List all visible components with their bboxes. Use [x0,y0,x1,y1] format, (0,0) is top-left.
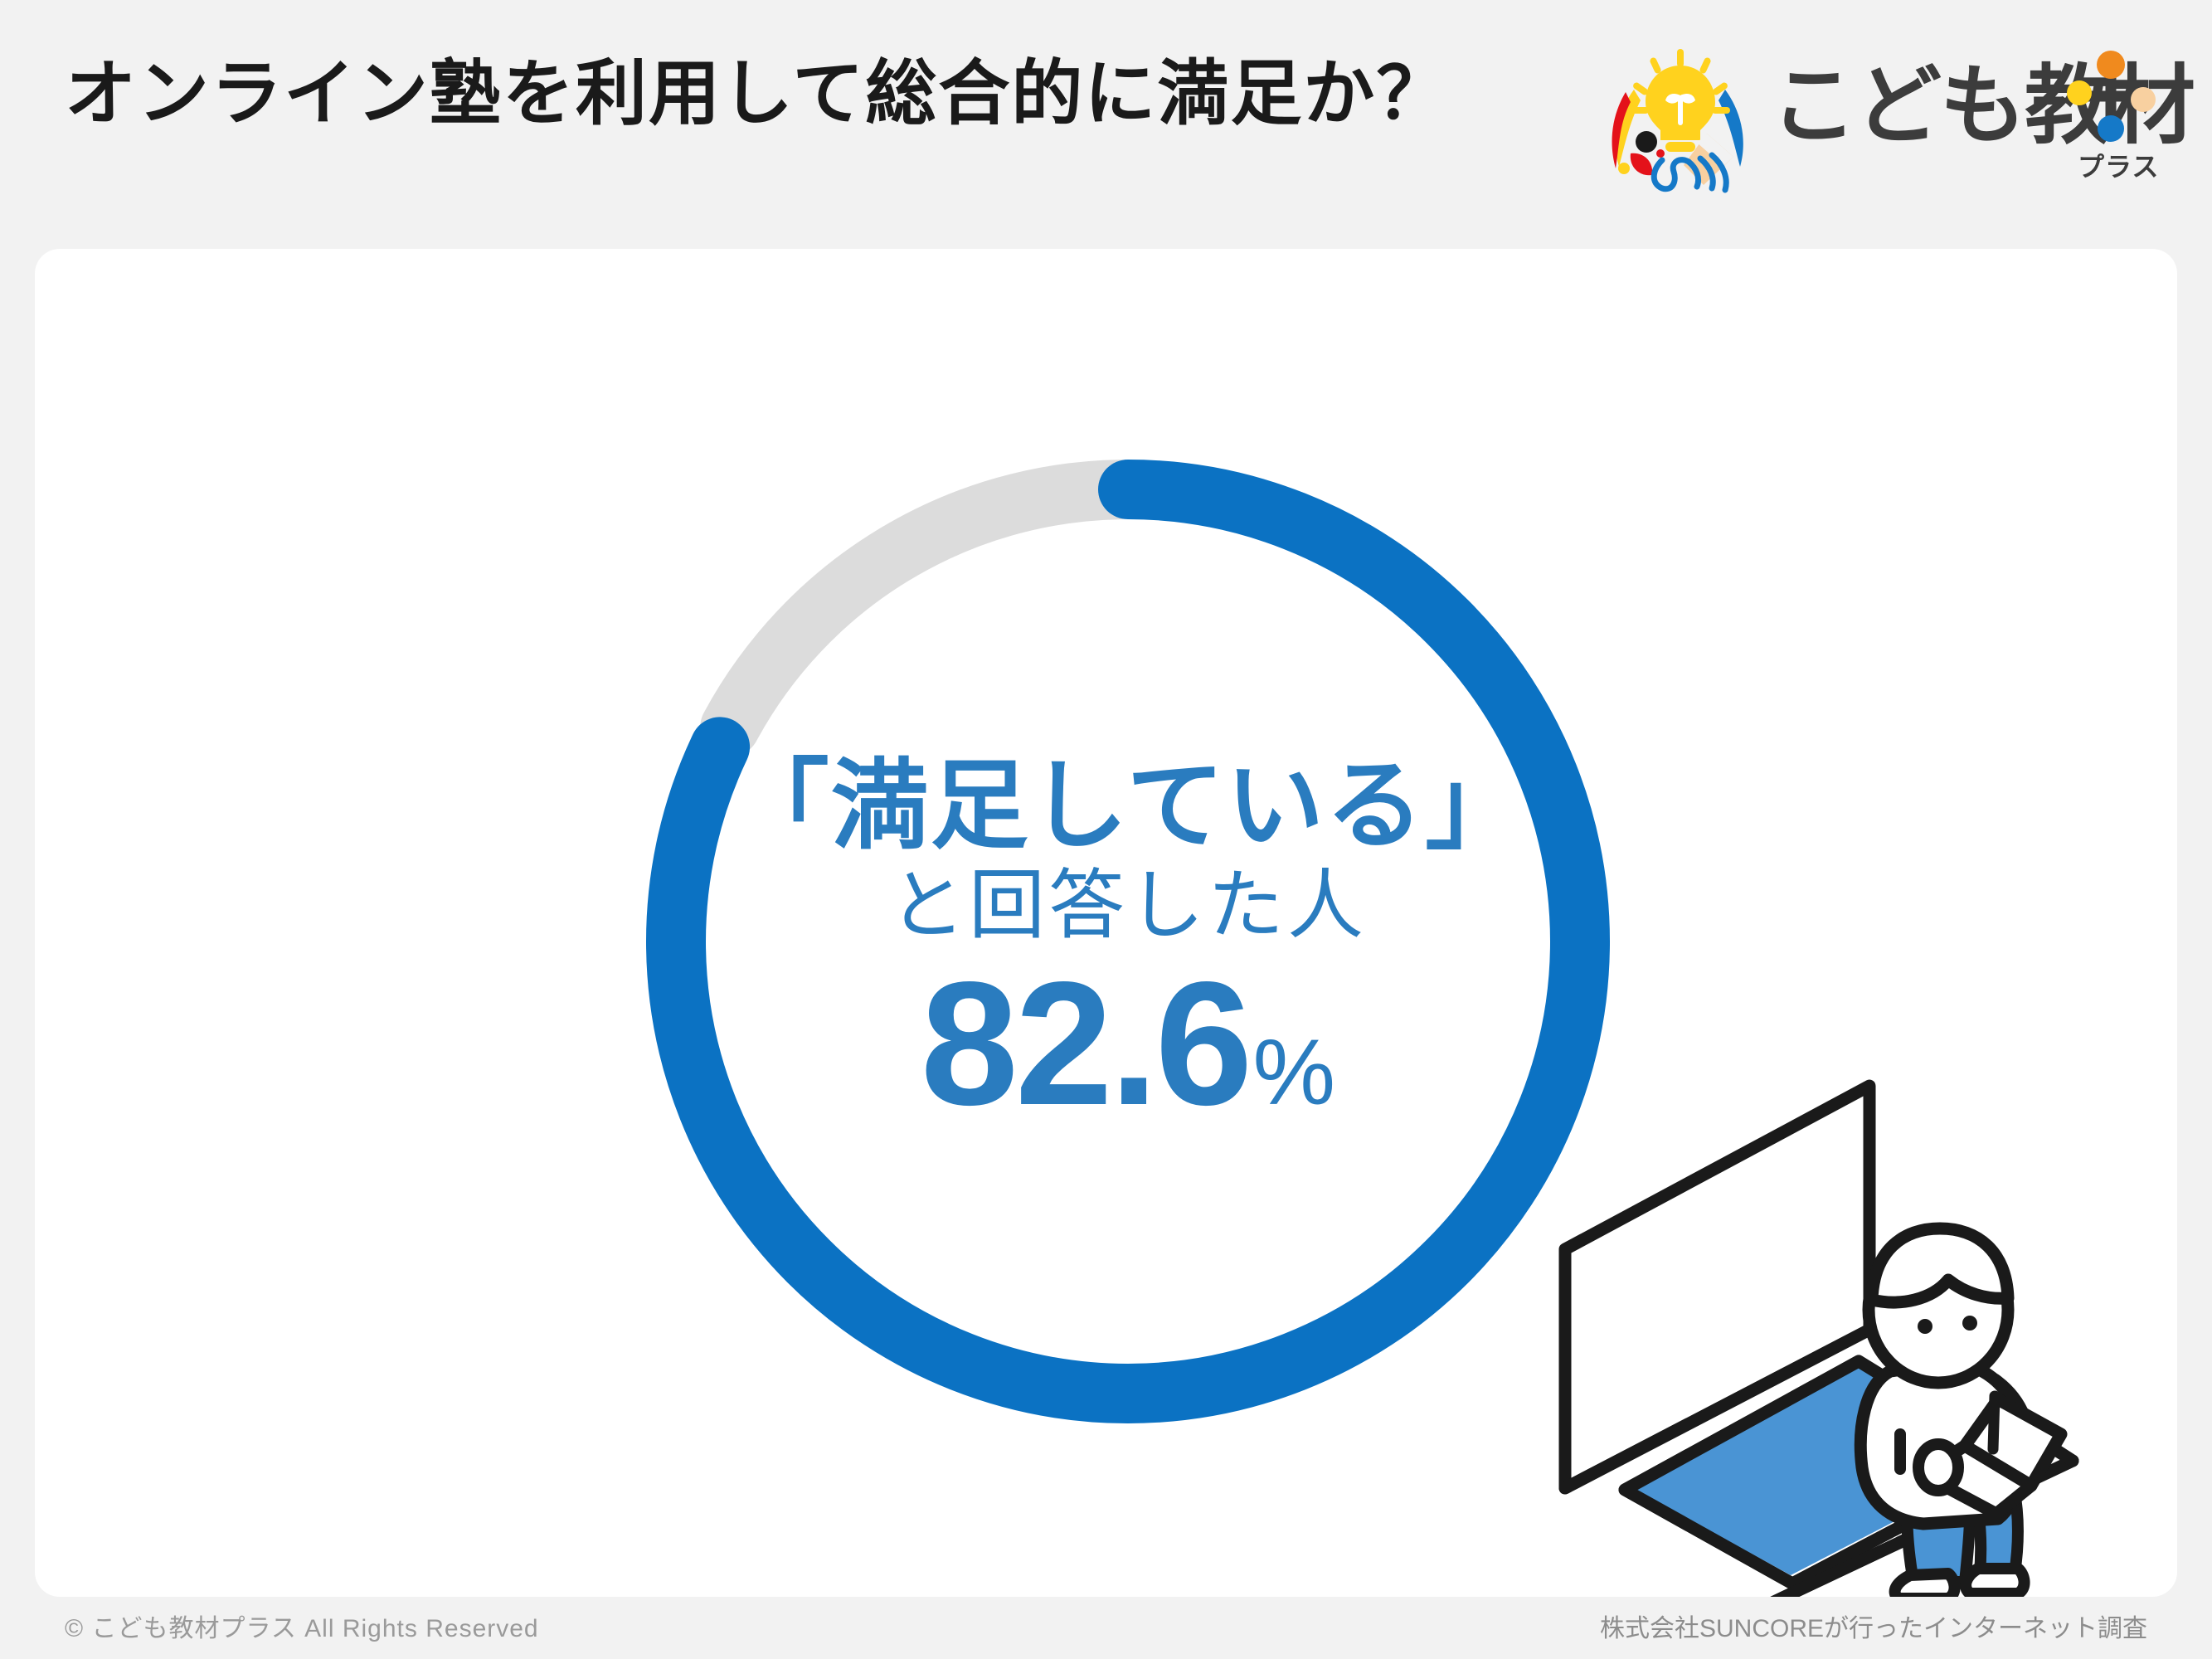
person-sitting-on-laptop-icon [1500,1071,2147,1597]
logo-plus-label: プラス [2078,146,2159,184]
plus-mark-icon [2061,46,2161,146]
content-card: 「満足している」 と回答した人 82.6 % [35,249,2177,1597]
footer-source: 株式会社SUNCOREが行ったインターネット調査 [1600,1608,2147,1644]
brand-logo[interactable]: こども教材 プラス [1601,40,2165,197]
page-header: オンライン塾を利用して総合的に満足か？ [0,0,2212,249]
lightbulb-pencil-icon [1601,44,1758,193]
donut-chart [639,452,1617,1431]
page-title: オンライン塾を利用して総合的に満足か？ [65,51,1449,137]
footer-copyright: © こども教材プラス All Rights Reserved [65,1608,539,1644]
